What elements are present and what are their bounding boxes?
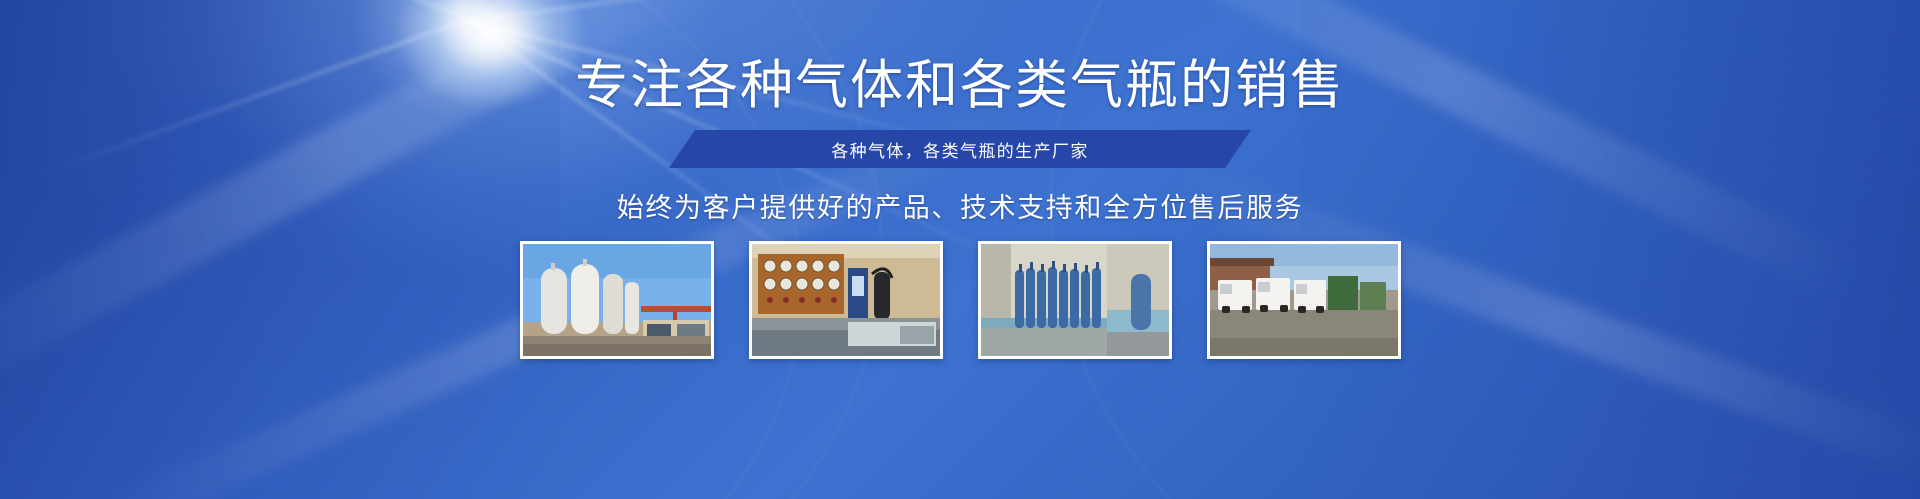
- photo-delivery-truck-fleet[interactable]: [1207, 241, 1401, 359]
- photo-gauge-control-panel[interactable]: [749, 241, 943, 359]
- photo-gas-cylinder-array[interactable]: [978, 241, 1172, 359]
- page-subtitle: 始终为客户提供好的产品、技术支持和全方位售后服务: [0, 186, 1920, 225]
- tagline-ribbon: 各种气体，各类气瓶的生产厂家: [669, 130, 1251, 168]
- page-title: 专注各种气体和各类气瓶的销售: [0, 57, 1920, 114]
- photo-strip: [0, 241, 1920, 359]
- hero-banner: 专注各种气体和各类气瓶的销售 各种气体，各类气瓶的生产厂家 始终为客户提供好的产…: [0, 0, 1920, 499]
- ribbon-container: 各种气体，各类气瓶的生产厂家: [0, 130, 1920, 168]
- photo-cryogenic-storage-tanks[interactable]: [520, 241, 714, 359]
